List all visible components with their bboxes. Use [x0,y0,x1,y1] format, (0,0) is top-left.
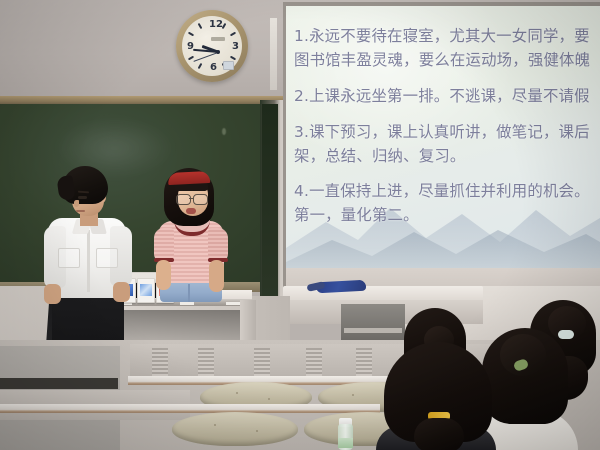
clock-numeral-3: 3 [232,42,239,52]
student-bun [500,334,546,376]
slide-line-3a: 3.课下预习，课上认真听讲，做笔记，课后 [294,122,600,144]
board-edge-shadow [262,104,278,300]
clock-numeral-6: 6 [210,63,217,73]
presenter-nose [74,200,79,207]
clock-numeral-12: 12 [209,20,223,30]
gift-box-light-blue [137,278,155,303]
presenter-mouth [76,210,85,212]
slide-line-4a: 4.一直保持上进，尽量抓住并利用的机会。 [294,181,600,203]
slide-line-3b: 架，总结、归纳、复习。 [294,146,600,168]
clock-face: 12 3 6 9 [182,16,242,76]
clock-second-hand [193,52,218,62]
speaker-sleeve-left [154,228,174,262]
slide-line-4b: 第一，量化第二。 [294,205,600,227]
lens-left [176,194,191,205]
slide-text-block: 1.永远不要待在寝室，尤其大一女同学，要 图书馆丰盈灵魂，要么在运动场，强健体魄… [294,26,600,229]
presenter-forearm-left [44,284,61,304]
projection-screen: 1.永远不要待在寝室，尤其大一女同学，要 图书馆丰盈灵魂，要么在运动场，强健体魄… [286,6,600,272]
slide-line-2: 2.上课永远坐第一排。不逃课，尽量不请假 [294,86,600,108]
wall-clock: 12 3 6 9 [176,10,248,82]
shirt-pocket-left [58,248,80,268]
student-ponytail [414,418,464,450]
shirt-pocket-right [96,248,118,268]
clock-date-window [223,61,234,70]
slide-line-1a: 1.永远不要待在寝室，尤其大一女同学，要 [294,26,600,48]
red-headband [168,171,211,185]
counter-equipment-niche [341,304,405,340]
seat-back [172,412,298,446]
classroom-photo: 12 3 6 9 [0,0,600,450]
clock-center-hub [216,50,220,54]
bottle-label [338,438,353,448]
clock-brand-mark [211,37,225,41]
niche-rail [344,328,402,333]
slide-line-1b: 图书馆丰盈灵魂，要么在运动场，强健体魄 [294,50,600,72]
student-hair-clip [558,330,574,339]
wall-light-strip [270,18,277,90]
lens-right [193,194,208,205]
presenter-forearm-right [113,282,130,302]
speaker-forearm-right [209,260,224,292]
presenter-eye [78,196,87,199]
blackboard-mark [222,128,226,135]
speaker-mouth [186,208,196,214]
desk-surface-front-right [150,404,380,413]
shirt-placket [87,230,90,292]
baseboard [0,378,118,389]
jeans-seam [188,284,190,302]
speaker-forearm-left [156,260,171,290]
eyeglasses-icon [176,194,208,203]
speaker-sleeve-right [208,228,228,262]
